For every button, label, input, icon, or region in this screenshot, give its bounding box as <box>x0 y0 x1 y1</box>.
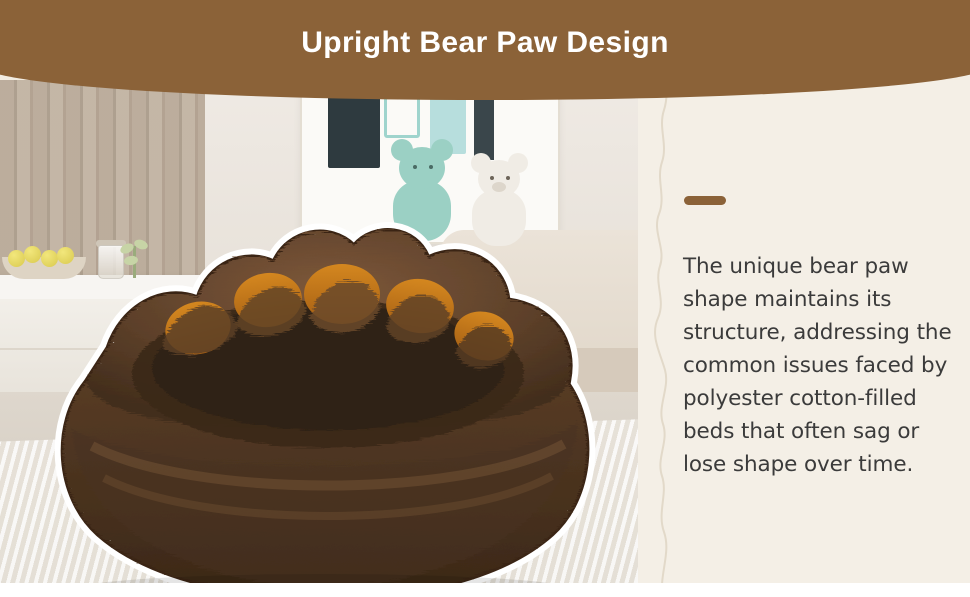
product-photo <box>0 80 660 597</box>
page-title: Upright Bear Paw Design <box>0 26 970 60</box>
teddy-eye-left <box>413 165 417 169</box>
description-text: The unique bear paw shape maintains its … <box>683 250 959 481</box>
torn-paper-edge <box>638 80 674 597</box>
teddy-eye-right <box>429 165 433 169</box>
promo-image-canvas: The unique bear paw shape maintains its … <box>0 0 970 597</box>
bear-paw-pet-bed <box>12 178 632 597</box>
description-panel: The unique bear paw shape maintains its … <box>638 80 970 597</box>
accent-dash <box>684 196 726 205</box>
bottom-strip <box>0 583 970 597</box>
